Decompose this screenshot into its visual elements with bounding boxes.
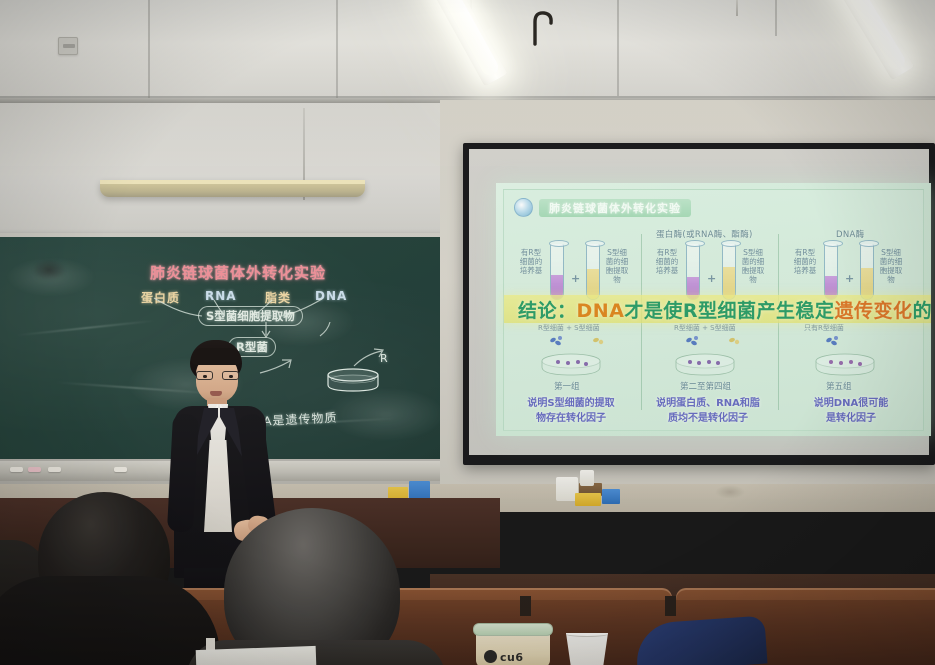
test-tube-r-culture-g1 xyxy=(550,244,564,300)
slide-caption-1: 说明S型细菌的提取 物存在转化因子 xyxy=(507,396,635,426)
petri-dish-g3 xyxy=(814,353,876,377)
ceiling-seam-vertical-1 xyxy=(148,0,150,98)
blackboard-arrow-down xyxy=(250,322,340,340)
projection-screen-surface: 肺炎链球菌体外转化实验 蛋白酶(或RNA酶、酯酶) DNA酶 有R型细菌的培养基… xyxy=(469,149,929,455)
wall-outlet xyxy=(58,37,78,55)
slide-conclusion-text: 结论：DNA才是使R型细菌产生稳定遗传变化的物质 xyxy=(504,296,931,323)
plus-sign-g2: + xyxy=(707,272,716,285)
glasses-lens-left xyxy=(196,371,213,380)
blackboard-petri-dish-drawing xyxy=(325,368,381,394)
caption-3-line1: 说明DNA很可能 xyxy=(814,398,888,409)
conclusion-middle: 才是使R型细菌产生稳定 xyxy=(624,300,834,322)
slide-caption-2: 说明蛋白质、RNA和脂 质均不是转化因子 xyxy=(644,396,772,426)
chalk-box-blue-right xyxy=(602,489,620,504)
projection-screen-frame: 肺炎链球菌体外转化实验 蛋白酶(或RNA酶、酯酶) DNA酶 有R型细菌的培养基… xyxy=(463,143,935,465)
classroom-photo: 肺炎链球菌体外转化实验 蛋白质 RNA 脂类 DNA S型菌细胞提取物 R型菌 … xyxy=(0,0,935,665)
bacteria-icon-g2-left xyxy=(684,335,700,347)
mix-label-g2: R型细菌 + S型细菌 xyxy=(674,323,736,333)
chalk-piece xyxy=(48,467,61,472)
bacteria-icon-g1-right xyxy=(590,335,606,347)
beverage-cup-lid xyxy=(473,623,553,636)
teacher-mouth xyxy=(210,391,222,396)
tube-caption-right-g2: S型细菌的细胞提取物 xyxy=(740,248,766,284)
caption-3-line2: 是转化因子 xyxy=(787,411,915,426)
desk-post-2 xyxy=(665,596,676,616)
petri-dish-g1 xyxy=(540,353,602,377)
bacteria-icon-g2-right xyxy=(726,335,742,347)
tube-caption-right-g1: S型细菌的细胞提取物 xyxy=(604,248,630,284)
test-tube-s-extract-g1 xyxy=(586,244,600,300)
conclusion-prefix: 结论： xyxy=(518,300,577,322)
chalk-piece-pink xyxy=(28,467,41,472)
slide-column-header-2: 蛋白酶(或RNA酶、酯酶) xyxy=(656,228,753,240)
bacteria-icon-g1-left xyxy=(548,335,564,347)
projected-slide: 肺炎链球菌体外转化实验 蛋白酶(或RNA酶、酯酶) DNA酶 有R型细菌的培养基… xyxy=(496,183,931,436)
paper-sheet-upright xyxy=(580,470,594,486)
beverage-brand-text: cu6 xyxy=(500,651,524,664)
conclusion-highlight: 遗传变化 xyxy=(835,300,913,322)
chalk-smudge xyxy=(326,387,446,442)
conclusion-dna: DNA xyxy=(577,300,625,322)
ceiling-seam-vertical-2 xyxy=(336,0,338,98)
chalk-streak xyxy=(16,320,155,337)
slide-column-header-3: DNA酶 xyxy=(836,228,864,240)
teacher-hair-fringe xyxy=(191,348,241,365)
tube-caption-left-g1: 有R型细菌的培养基 xyxy=(518,248,544,275)
plus-sign-g1: + xyxy=(571,272,580,285)
chalk-piece xyxy=(114,467,127,472)
teacher-glasses xyxy=(196,371,239,380)
slide-title: 肺炎链球菌体外转化实验 xyxy=(539,199,691,217)
caption-1-line2: 物存在转化因子 xyxy=(507,411,635,426)
tube-caption-right-g3: S型细菌的细胞提取物 xyxy=(878,248,904,284)
ceiling-seam-vertical-3 xyxy=(617,0,619,96)
test-tube-r-culture-g2 xyxy=(686,244,700,300)
group-label-1: 第一组 xyxy=(554,380,580,392)
mix-label-g1: R型细菌 + S型细菌 xyxy=(538,323,600,333)
tube-caption-left-g3: 有R型细菌的培养基 xyxy=(792,248,818,275)
slide-logo-icon xyxy=(514,198,533,217)
wall-hook-icon xyxy=(527,8,555,46)
slide-conclusion-banner: 结论：DNA才是使R型细菌产生稳定遗传变化的物质 xyxy=(504,295,931,323)
teacher-eye-right xyxy=(229,375,233,378)
teacher-eye-left xyxy=(203,375,207,378)
caption-2-line1: 说明蛋白质、RNA和脂 xyxy=(656,398,760,409)
desk-post-1 xyxy=(520,596,531,616)
caption-2-line2: 质均不是转化因子 xyxy=(644,411,772,426)
mix-label-g3: 只有R型细菌 xyxy=(804,323,844,333)
plus-sign-g3: + xyxy=(845,272,854,285)
beverage-brand-logo-icon xyxy=(484,650,497,663)
group-label-3: 第五组 xyxy=(826,380,852,392)
slide-canvas: 肺炎链球菌体外转化实验 蛋白酶(或RNA酶、酯酶) DNA酶 有R型细菌的培养基… xyxy=(503,189,924,431)
blackboard-lamp xyxy=(100,180,365,197)
test-tube-s-extract-g2 xyxy=(722,244,736,300)
caption-1-line1: 说明S型细菌的提取 xyxy=(527,398,614,409)
blackboard-title: 肺炎链球菌体外转化实验 xyxy=(150,262,326,283)
test-tube-r-culture-g3 xyxy=(824,244,838,300)
chalk-piece xyxy=(10,467,23,472)
blackboard-dish-arrow xyxy=(352,346,388,368)
petri-dish-g2 xyxy=(674,353,736,377)
eraser-mark xyxy=(32,259,66,281)
group-label-2: 第二至第四组 xyxy=(680,380,731,392)
slide-caption-3: 说明DNA很可能 是转化因子 xyxy=(787,396,915,426)
ceiling-seam-vertical-4 xyxy=(775,0,777,36)
light-hanger-rod-4 xyxy=(736,0,738,16)
bacteria-icon-g3 xyxy=(824,335,840,347)
conclusion-suffix: 的物质 xyxy=(913,300,931,322)
tube-caption-left-g2: 有R型细菌的培养基 xyxy=(654,248,680,275)
wall-scuff-mark xyxy=(715,485,745,499)
chalk-box-yellow-right xyxy=(575,493,601,506)
glasses-lens-right xyxy=(222,371,239,380)
test-tube-s-extract-g3 xyxy=(860,244,874,300)
beverage-cup: cu6 xyxy=(476,628,550,665)
paper-cup xyxy=(566,633,608,665)
desk-papers xyxy=(196,646,317,665)
